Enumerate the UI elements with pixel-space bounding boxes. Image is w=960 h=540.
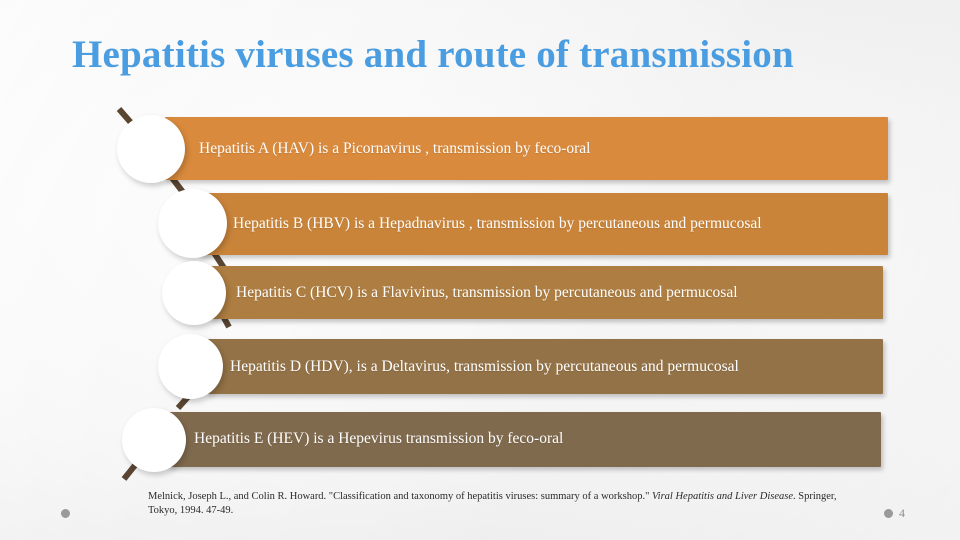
citation-text: Melnick, Joseph L., and Colin R. Howard.… [148,490,838,519]
bullet-circle [162,261,226,325]
bullet-circle [158,334,223,399]
footer-dot-right [884,509,893,518]
hepatitis-bar-label: Hepatitis B (HBV) is a Hepadnavirus , tr… [233,216,762,232]
page-title: Hepatitis viruses and route of transmiss… [72,32,902,77]
hepatitis-bar-label: Hepatitis E (HEV) is a Hepevirus transmi… [194,431,563,447]
citation-journal: Viral Hepatitis and Liver Disease [652,491,793,502]
slide-canvas: Hepatitis viruses and route of transmiss… [0,0,960,540]
hepatitis-bar-label: Hepatitis D (HDV), is a Deltavirus, tran… [230,359,739,375]
footer-dot-left [61,509,70,518]
bullet-circle [117,115,185,183]
citation-part-1: Melnick, Joseph L., and Colin R. Howard.… [148,491,652,502]
hepatitis-bar-label: Hepatitis C (HCV) is a Flavivirus, trans… [236,285,738,301]
bullet-circle [122,408,186,472]
page-number: 4 [899,506,905,521]
bullet-circle [158,189,227,258]
hepatitis-bar-label: Hepatitis A (HAV) is a Picornavirus , tr… [199,141,590,157]
